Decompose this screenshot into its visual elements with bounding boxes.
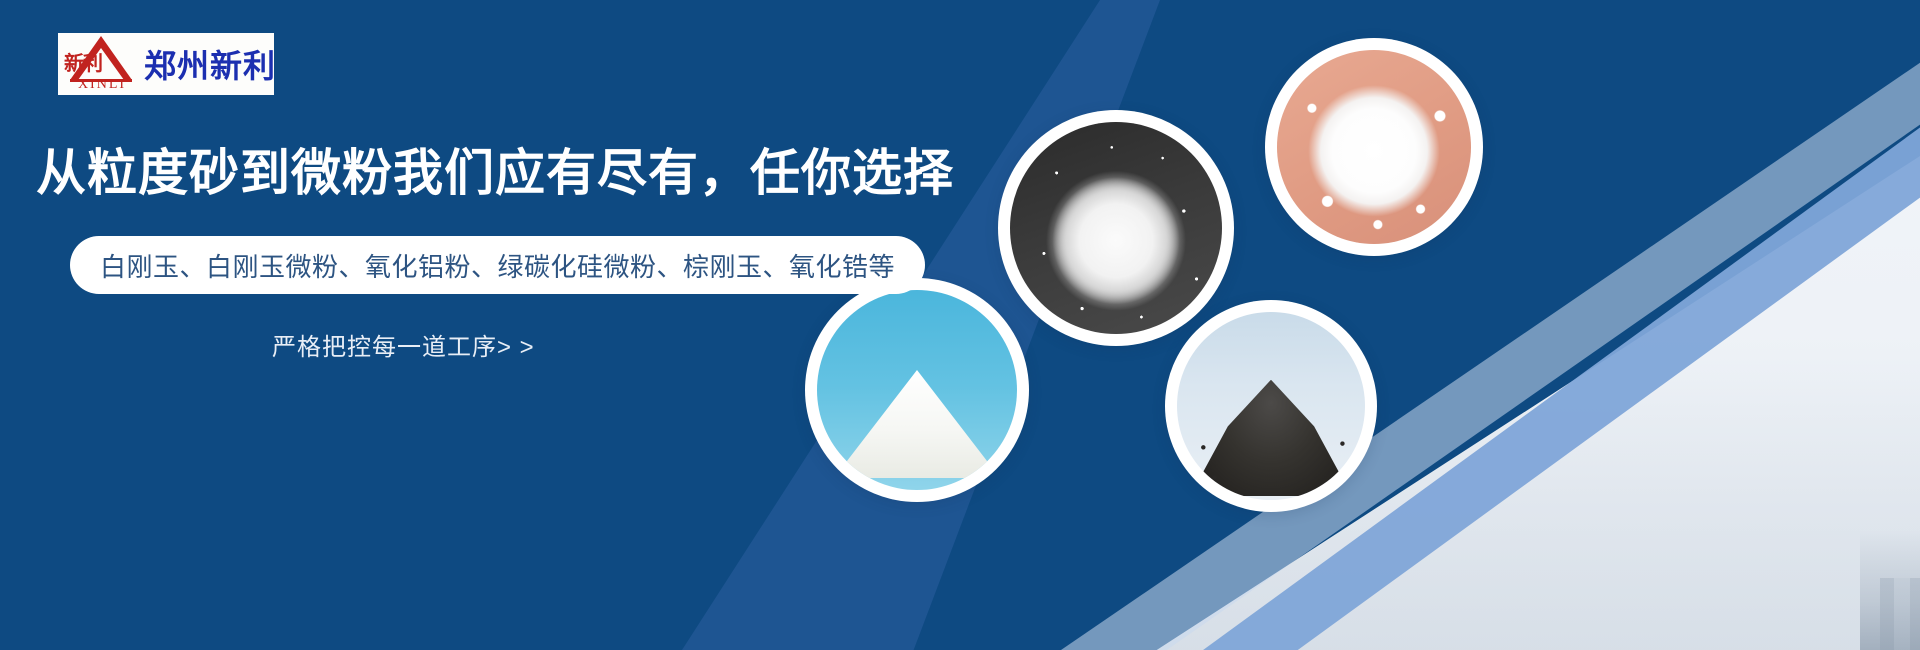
product-photo-black-granules-image: [1177, 312, 1365, 500]
product-photo-white-granules[interactable]: [998, 110, 1234, 346]
triangle-logo-icon: 新利 XINLI: [66, 35, 136, 93]
product-photo-black-granules[interactable]: [1165, 300, 1377, 512]
logo-mark-pinyin: XINLI: [68, 77, 136, 93]
powder-heap: [841, 370, 993, 478]
product-list-text: 白刚玉、白刚玉微粉、氧化铝粉、绿碳化硅微粉、棕刚玉、氧化锆等: [100, 247, 895, 284]
product-photo-white-powder-image: [1277, 50, 1471, 244]
process-subline[interactable]: 严格把控每一道工序> >: [272, 327, 535, 362]
powder-clumps: [1277, 50, 1471, 244]
logo-mark-characters: 新利: [64, 54, 102, 74]
promo-banner: 新利 XINLI 郑州新利 从粒度砂到微粉我们应有尽有，任你选择 白刚玉、白刚玉…: [0, 0, 1920, 650]
product-photo-white-powder[interactable]: [1265, 38, 1483, 256]
product-photo-cyan-powder-image: [817, 290, 1017, 490]
product-photo-white-granules-image: [1010, 122, 1222, 334]
scattered-granules: [1177, 312, 1365, 500]
company-name-text: 郑州新利: [144, 41, 276, 87]
product-photo-cyan-powder[interactable]: [805, 278, 1029, 502]
granule-speckles: [1010, 122, 1222, 334]
product-list-pill[interactable]: 白刚玉、白刚玉微粉、氧化铝粉、绿碳化硅微粉、棕刚玉、氧化锆等: [70, 236, 925, 294]
plant-structure-detail: [1880, 578, 1920, 650]
headline: 从粒度砂到微粉我们应有尽有，任你选择: [36, 142, 954, 204]
company-logo[interactable]: 新利 XINLI 郑州新利: [58, 33, 274, 95]
